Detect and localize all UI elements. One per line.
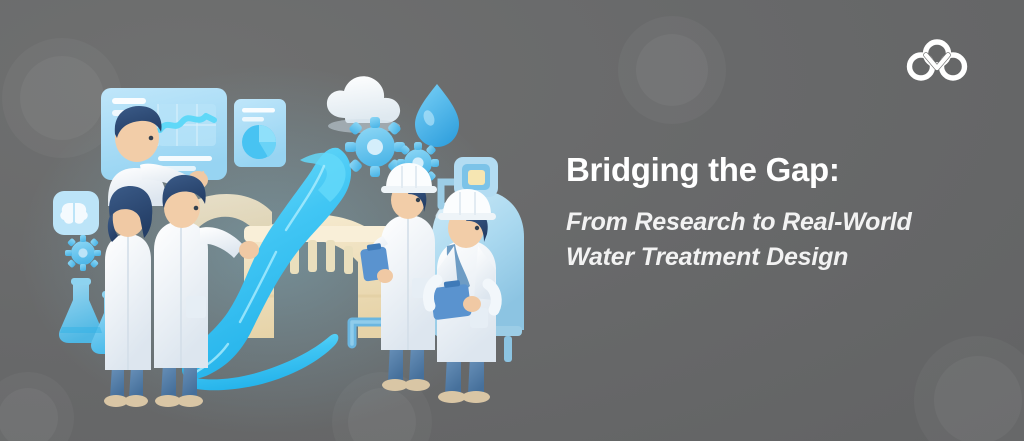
page-subtitle: From Research to Real-World Water Treatm… (566, 205, 966, 276)
small-gear-icon (65, 235, 101, 271)
hero-text-block: Bridging the Gap: From Research to Real-… (566, 152, 966, 276)
hero-banner: Bridging the Gap: From Research to Real-… (0, 0, 1024, 441)
page-title: Bridging the Gap: (566, 152, 966, 188)
brain-icon-tile (53, 191, 99, 235)
pie-chart-card (234, 99, 286, 167)
brand-logo[interactable] (906, 38, 966, 80)
hero-illustration (0, 0, 560, 441)
ring-top-right-inner (636, 34, 708, 106)
water-droplet-icon (415, 84, 459, 147)
ring-bottom-right-inner (934, 356, 1022, 441)
